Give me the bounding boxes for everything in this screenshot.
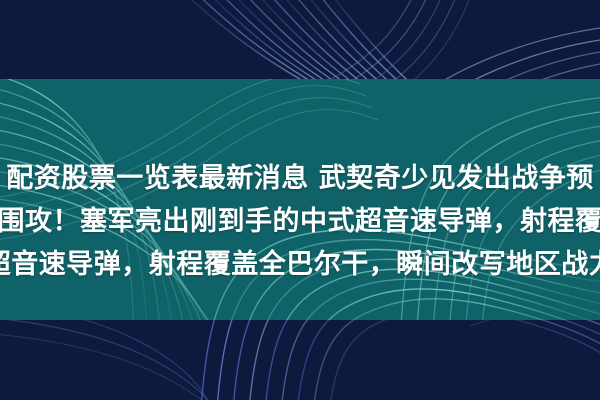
headline-line-3: 超音速导弹，射程覆盖全巴尔干，瞬间改写地区战力 bbox=[0, 251, 600, 278]
news-banner-image: 配资股票一览表最新消息 武契奇少见发出战争预 谋围攻！塞军亮出刚到手的中式超音速… bbox=[0, 0, 600, 400]
headline-line-1: 配资股票一览表最新消息 武契奇少见发出战争预 bbox=[6, 165, 593, 192]
headline-line-2: 谋围攻！塞军亮出刚到手的中式超音速导弹，射程覆盖 bbox=[0, 208, 600, 235]
headline-text-layer: 配资股票一览表最新消息 武契奇少见发出战争预 谋围攻！塞军亮出刚到手的中式超音速… bbox=[0, 0, 600, 400]
